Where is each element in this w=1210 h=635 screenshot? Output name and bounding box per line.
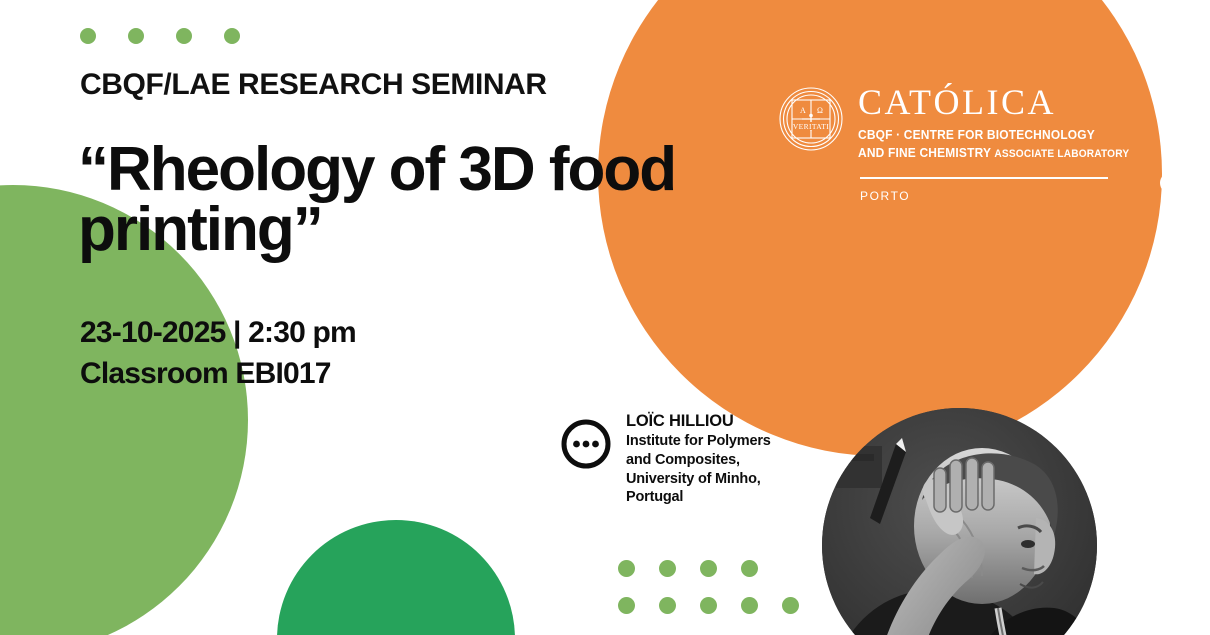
- logo-subtitle-line2: AND FINE CHEMISTRY ASSOCIATE LABORATORY: [858, 144, 1129, 163]
- logo-centre-text: · CENTRE FOR BIOTECHNOLOGY: [893, 127, 1095, 142]
- logo-divider: [860, 177, 1108, 179]
- bottom-dot-r1-3: [700, 560, 717, 577]
- headline-group: CBQF/LAE RESEARCH SEMINAR: [80, 68, 700, 101]
- top-left-dot-1: [80, 28, 96, 44]
- right-edge-dot-4: [1160, 172, 1182, 194]
- bottom-dot-r2-5: [782, 597, 799, 614]
- bottom-dot-r2-4: [741, 597, 758, 614]
- svg-text:Ω: Ω: [817, 106, 823, 115]
- catolica-logo: A Ω VERITATI CATÓLICA CBQF · CENTRE FOR …: [778, 82, 1108, 203]
- catolica-seal-icon: A Ω VERITATI: [778, 86, 844, 152]
- bottom-dot-r1-2: [659, 560, 676, 577]
- kicker-text: CBQF/LAE RESEARCH SEMINAR: [80, 68, 700, 101]
- right-edge-dot-column: [1160, 28, 1184, 288]
- svg-text:A: A: [800, 106, 806, 115]
- bottom-dot-grid: [618, 560, 818, 620]
- right-edge-dot-6: [1160, 268, 1182, 290]
- top-left-dot-row: [80, 28, 250, 48]
- event-datetime: 23-10-2025 | 2:30 pm: [80, 312, 600, 353]
- event-location: Classroom EBI017: [80, 353, 600, 394]
- bottom-dot-r2-1: [618, 597, 635, 614]
- dots-circle-icon: [560, 418, 612, 470]
- top-left-dot-4: [224, 28, 240, 44]
- logo-city-label: PORTO: [860, 189, 1108, 203]
- bottom-dot-r1-4: [741, 560, 758, 577]
- bottom-dot-r1-1: [618, 560, 635, 577]
- bottom-dot-r2-2: [659, 597, 676, 614]
- logo-chemistry-text: AND FINE CHEMISTRY: [858, 145, 991, 160]
- right-edge-dot-5: [1160, 220, 1182, 242]
- logo-cbqf-bold: CBQF: [858, 127, 893, 142]
- top-left-dot-2: [128, 28, 144, 44]
- right-edge-dot-1: [1160, 28, 1182, 50]
- seminar-poster: CBQF/LAE RESEARCH SEMINAR “Rheology of 3…: [0, 0, 1210, 635]
- right-edge-dot-2: [1160, 76, 1182, 98]
- speaker-text: LOÏC HILLIOU Institute for Polymers and …: [626, 412, 771, 507]
- event-details: 23-10-2025 | 2:30 pm Classroom EBI017: [80, 312, 600, 395]
- page-title: “Rheology of 3D food printing”: [78, 140, 718, 260]
- catolica-wordmark: CATÓLICA: [858, 84, 1153, 120]
- top-left-dot-3: [176, 28, 192, 44]
- logo-subtitle-line1: CBQF · CENTRE FOR BIOTECHNOLOGY: [858, 126, 1129, 144]
- speaker-block: LOÏC HILLIOU Institute for Polymers and …: [560, 412, 771, 507]
- right-edge-dot-3: [1160, 124, 1182, 146]
- speaker-affiliation: Institute for Polymers and Composites, U…: [626, 432, 771, 506]
- speaker-name: LOÏC HILLIOU: [626, 412, 771, 431]
- dark-green-circle-decoration: [277, 520, 515, 635]
- svg-text:VERITATI: VERITATI: [793, 122, 829, 131]
- logo-associate-lab-text: ASSOCIATE LABORATORY: [994, 148, 1129, 160]
- bottom-dot-r2-3: [700, 597, 717, 614]
